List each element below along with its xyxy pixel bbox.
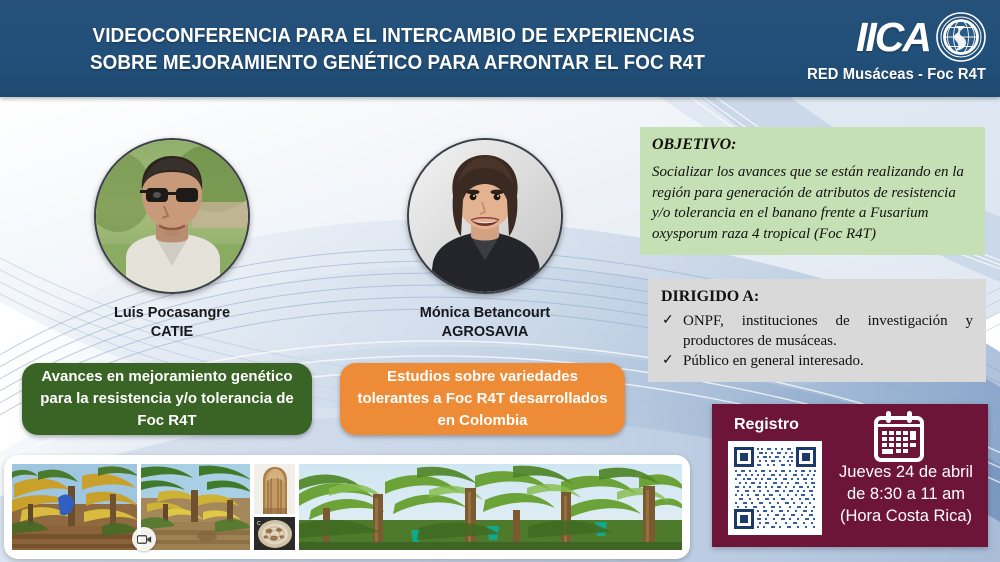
photo-banana-pseudostem-cross-section bbox=[254, 464, 296, 514]
speaker-card-1: Luis Pocasangre CATIE bbox=[82, 138, 262, 342]
list-item: ✓ ONPF, instituciones de investigación y… bbox=[661, 312, 973, 351]
dirigido-title: DIRIGIDO A: bbox=[661, 288, 973, 306]
talk-title-2: Estudios sobre variedades tolerantes a F… bbox=[340, 363, 625, 435]
list-item-label: Público en general interesado. bbox=[683, 353, 864, 369]
logo-subtitle: RED Musáceas - Foc R4T bbox=[782, 66, 986, 84]
photo-strip: C bbox=[4, 455, 690, 559]
title-line-1: VIDEOCONFERENCIA PARA EL INTERCAMBIO DE … bbox=[90, 22, 697, 49]
date-line-1: Jueves 24 de abril bbox=[830, 461, 982, 483]
registro-date: Jueves 24 de abril de 8:30 a 11 am (Hora… bbox=[830, 461, 982, 527]
photo-banana-plants-yellowing-leaves bbox=[12, 464, 137, 550]
video-camera-icon bbox=[132, 527, 156, 551]
header-banner: VIDEOCONFERENCIA PARA EL INTERCAMBIO DE … bbox=[0, 0, 1000, 97]
svg-text:C: C bbox=[257, 521, 261, 527]
objetivo-text: Socializar los avances que se están real… bbox=[652, 162, 973, 244]
portrait-luis-pocasangre bbox=[96, 140, 248, 292]
poster-root: VIDEOCONFERENCIA PARA EL INTERCAMBIO DE … bbox=[0, 0, 1000, 562]
check-icon: ✓ bbox=[662, 311, 674, 331]
speaker-name: Luis Pocasangre bbox=[82, 304, 262, 323]
portrait-monica-betancourt bbox=[409, 140, 561, 292]
iica-logo: IICA bbox=[771, 10, 986, 90]
check-icon: ✓ bbox=[662, 351, 674, 371]
list-item: ✓ Público en general interesado. bbox=[661, 352, 973, 372]
photo-banana-corm-vascular-discoloration: C bbox=[254, 517, 296, 550]
photo-stack: C bbox=[254, 464, 296, 550]
talk-title-1: Avances en mejoramiento genético para la… bbox=[22, 363, 312, 435]
qr-code-registro[interactable] bbox=[728, 441, 822, 535]
speaker-org: CATIE bbox=[82, 323, 262, 342]
iica-wordmark: IICA bbox=[856, 17, 930, 58]
photo-banana-field-wilting-plant bbox=[141, 464, 250, 550]
speaker-name: Mónica Betancourt bbox=[395, 304, 575, 323]
registro-label: Registro bbox=[734, 416, 799, 434]
date-line-3: (Hora Costa Rica) bbox=[830, 505, 982, 527]
calendar-icon bbox=[870, 410, 928, 462]
speaker-card-2: Mónica Betancourt AGROSAVIA bbox=[395, 138, 575, 342]
speaker-org: AGROSAVIA bbox=[395, 323, 575, 342]
dirigido-list: ✓ ONPF, instituciones de investigación y… bbox=[661, 312, 973, 372]
photo-healthy-banana-plantation bbox=[299, 464, 682, 550]
globe-icon bbox=[936, 12, 986, 62]
avatar bbox=[407, 138, 563, 294]
date-line-2: de 8:30 a 11 am bbox=[830, 483, 982, 505]
list-item-label: ONPF, instituciones de investigación y p… bbox=[683, 313, 973, 349]
avatar bbox=[94, 138, 250, 294]
page-title: VIDEOCONFERENCIA PARA EL INTERCAMBIO DE … bbox=[90, 22, 697, 76]
title-line-2: SOBRE MEJORAMIENTO GENÉTICO PARA AFRONTA… bbox=[90, 49, 697, 76]
objetivo-title: OBJETIVO: bbox=[652, 136, 973, 154]
registro-panel: Registro bbox=[712, 404, 988, 547]
objetivo-box: OBJETIVO: Socializar los avances que se … bbox=[640, 127, 985, 255]
dirigido-box: DIRIGIDO A: ✓ ONPF, instituciones de inv… bbox=[648, 279, 986, 382]
